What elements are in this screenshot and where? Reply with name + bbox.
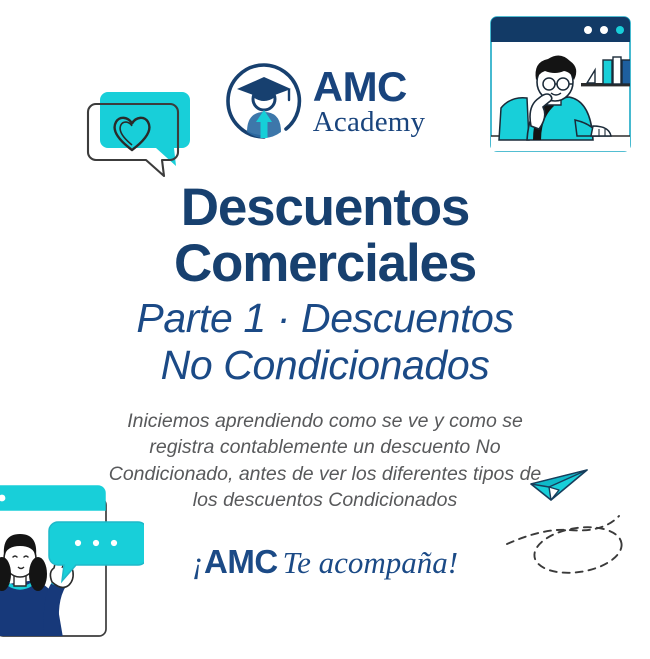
title-line-2: Comerciales [0, 236, 650, 292]
amc-academy-logo: AMC Academy [0, 62, 650, 142]
browser-window-woman-pointing-illustration [0, 482, 144, 659]
logo-text-amc: AMC [313, 68, 407, 107]
amc-graduate-circle-logo [225, 62, 303, 142]
page-subtitle: Parte 1 · Descuentos No Condicionados [0, 295, 650, 389]
subtitle-line-1: Parte 1 · Descuentos [0, 295, 650, 342]
tagline-brand: AMC [204, 543, 278, 580]
poster-canvas: AMC Academy Descuentos Comerciales Parte… [0, 0, 650, 650]
tagline-rest: Te acompaña! [283, 545, 458, 580]
title-line-1: Descuentos [0, 180, 650, 236]
logo-text-academy: Academy [313, 109, 426, 136]
page-title: Descuentos Comerciales [0, 180, 650, 292]
tagline-prefix: ¡ [192, 545, 204, 580]
subtitle-line-2: No Condicionados [0, 342, 650, 389]
paper-airplane-dashed-trail-illustration [505, 452, 650, 582]
